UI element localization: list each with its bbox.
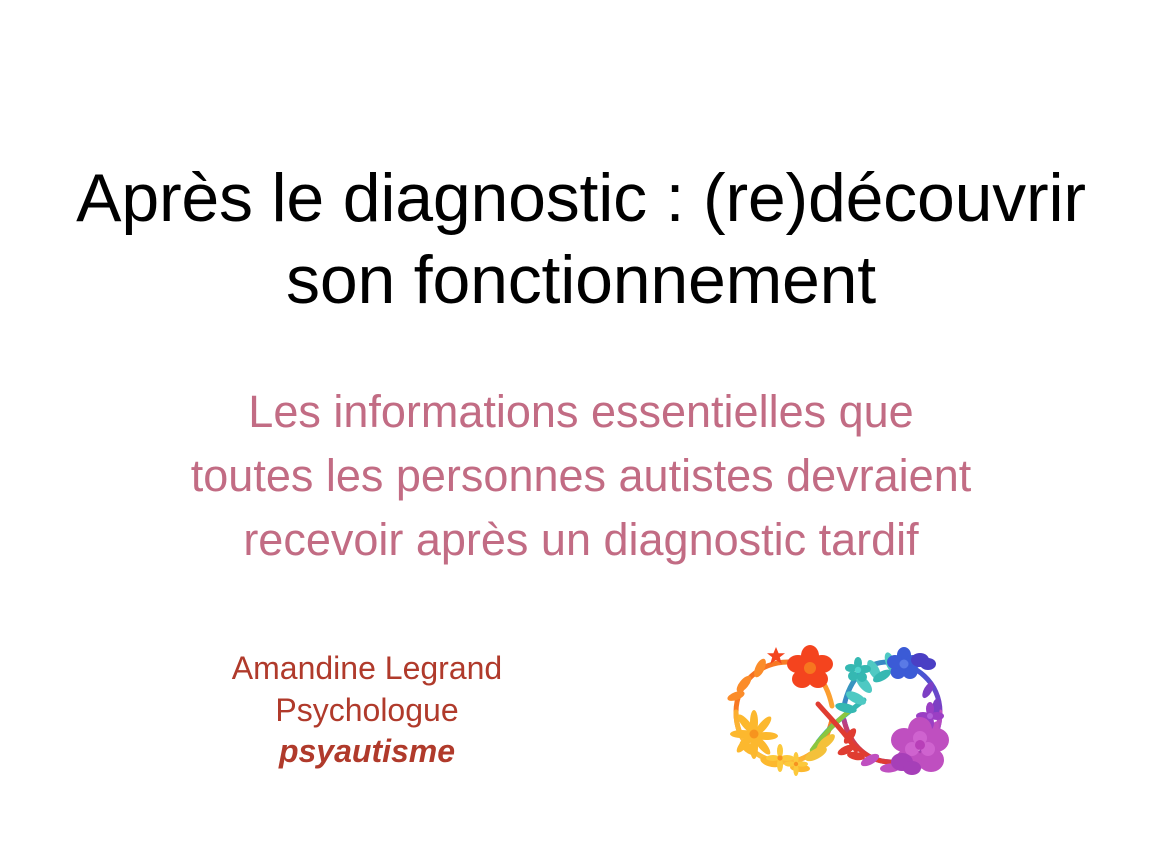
author-name: Amandine Legrand bbox=[186, 648, 548, 690]
slide-title: Après le diagnostic : (re)découvrir son … bbox=[40, 158, 1122, 321]
author-role: Psychologue bbox=[186, 690, 548, 732]
slide-canvas: Après le diagnostic : (re)découvrir son … bbox=[0, 0, 1162, 853]
subtitle-line-1: Les informations essentielles que bbox=[60, 380, 1102, 444]
author-credit: Amandine Legrand Psychologue psyautisme bbox=[186, 648, 548, 773]
slide-subtitle: Les informations essentielles que toutes… bbox=[60, 380, 1102, 572]
author-brand: psyautisme bbox=[186, 731, 548, 773]
title-line-2: son fonctionnement bbox=[40, 240, 1122, 322]
subtitle-line-3: recevoir après un diagnostic tardif bbox=[60, 508, 1102, 572]
subtitle-line-2: toutes les personnes autistes devraient bbox=[60, 444, 1102, 508]
floral-rainbow-infinity-icon bbox=[714, 638, 962, 778]
title-line-1: Après le diagnostic : (re)découvrir bbox=[40, 158, 1122, 240]
